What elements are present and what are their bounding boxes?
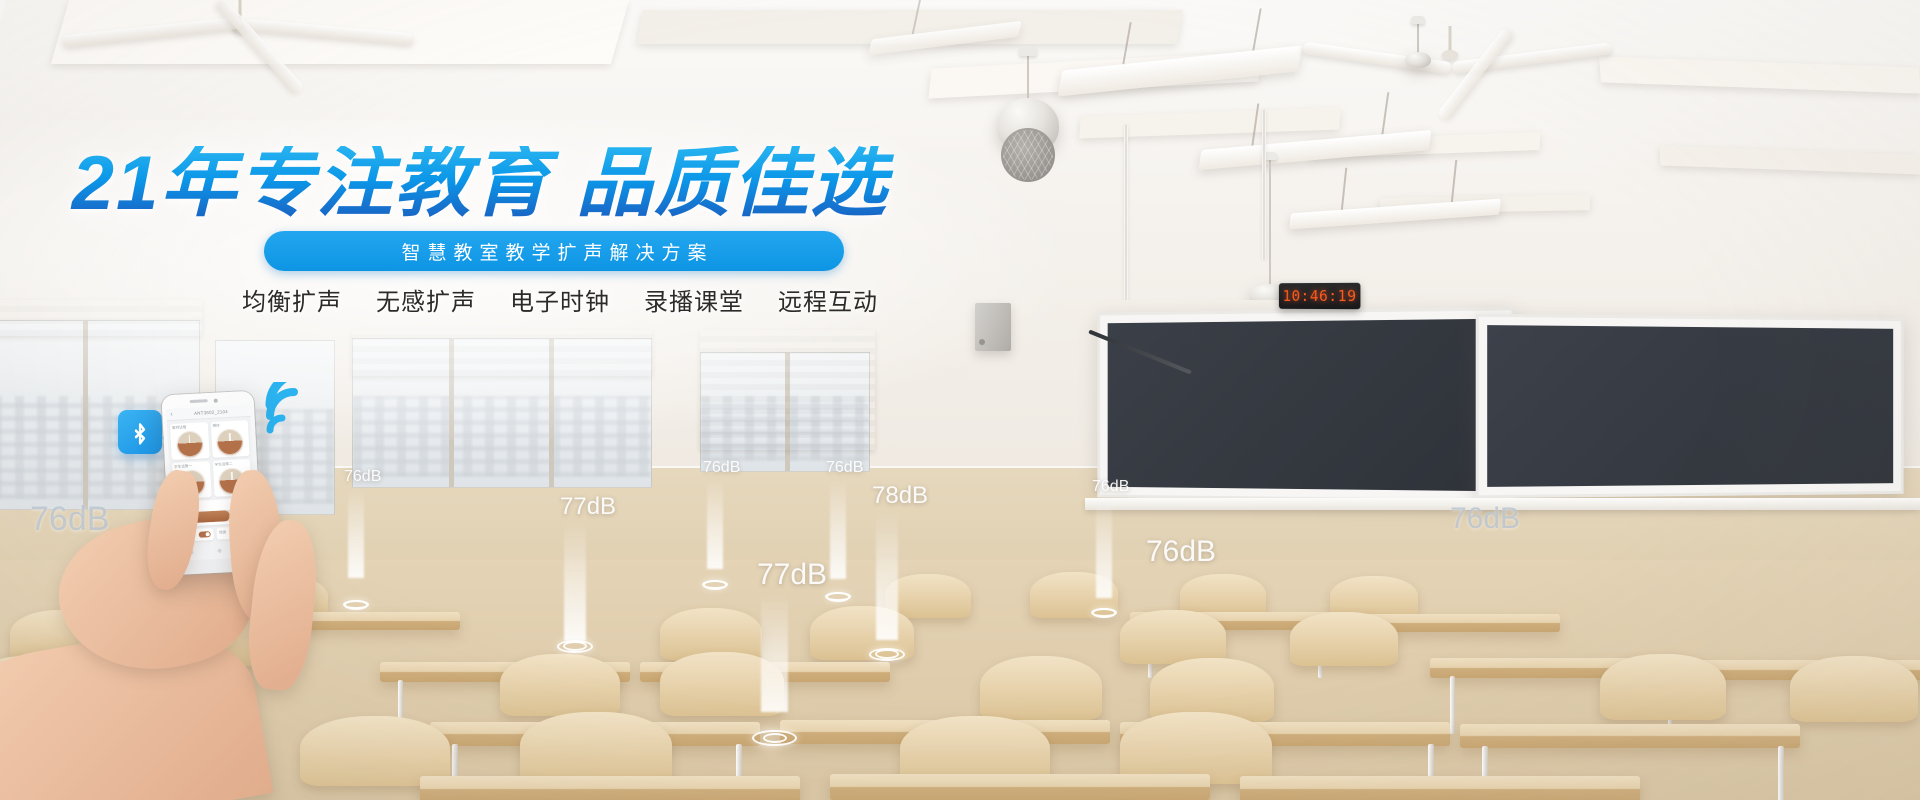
db-label-6: 77dB	[757, 558, 827, 592]
db-label-4: 76dB	[826, 459, 863, 477]
bluetooth-icon	[130, 419, 150, 445]
db-label-8: 76dB	[1146, 535, 1216, 569]
mic-pole	[1262, 110, 1266, 260]
clock-time: 10:46:19	[1283, 287, 1357, 305]
knob-card-label: 教师话筒	[172, 424, 206, 431]
window-blind	[352, 330, 652, 376]
db-label-9: 76dB	[1450, 502, 1520, 536]
knob-card-row-1: 教师话筒 媒体	[167, 417, 253, 460]
page-title: 21年专注教育品质佳选	[0, 146, 960, 222]
feature-tag-2: 电子时钟	[510, 282, 610, 317]
headline-number: 21	[72, 141, 161, 226]
feature-tag-4: 远程互动	[778, 282, 878, 317]
window-blind	[700, 330, 875, 450]
blackboard-left	[1097, 307, 1514, 503]
phone-earpiece	[190, 399, 208, 403]
db-label-7: 76dB	[1092, 478, 1129, 496]
subtitle-text: 智慧教室教学扩声解决方案	[394, 238, 713, 265]
db-label-2: 77dB	[560, 493, 616, 521]
hero-banner: 10:46:19	[0, 0, 1920, 800]
volume-knob[interactable]	[176, 430, 203, 457]
knob-card-label: 学生话筒二	[214, 461, 248, 468]
subtitle-pill: 智慧教室教学扩声解决方案	[264, 231, 844, 271]
db-label-5: 78dB	[872, 482, 928, 510]
knob-card[interactable]: 教师话筒	[170, 422, 209, 460]
db-label-3: 76dB	[703, 459, 740, 477]
app-title: ANT3602_2104	[176, 408, 247, 417]
wifi-signal-icon	[264, 382, 320, 436]
feature-tag-3: 录播课堂	[644, 282, 744, 317]
db-ring-2	[557, 640, 593, 653]
phone-front-camera	[214, 399, 218, 403]
smart-display-right	[1476, 314, 1904, 499]
knob-card[interactable]: 媒体	[210, 420, 249, 458]
knob-card-label: 媒体	[212, 422, 246, 429]
headline-main: 年专注教育	[160, 141, 550, 226]
db-ring-5	[869, 648, 905, 661]
headline-sub: 品质佳选	[576, 141, 888, 226]
scene-label: 场景	[219, 530, 226, 535]
knob-card-label: 学生话筒一	[174, 463, 208, 470]
db-label-0: 76dB	[30, 500, 109, 539]
feature-tag-list: 均衡扩声无感扩声电子时钟录播课堂远程互动	[0, 282, 1120, 317]
bluetooth-badge[interactable]	[118, 410, 162, 454]
record-toggle[interactable]	[198, 531, 210, 538]
back-icon[interactable]: ‹	[170, 411, 173, 418]
feature-tag-1: 无感扩声	[376, 282, 476, 317]
feature-tag-0: 均衡扩声	[242, 282, 342, 317]
db-label-1: 76dB	[344, 468, 381, 486]
electronic-clock: 10:46:19	[1279, 283, 1361, 309]
volume-knob[interactable]	[216, 428, 243, 455]
